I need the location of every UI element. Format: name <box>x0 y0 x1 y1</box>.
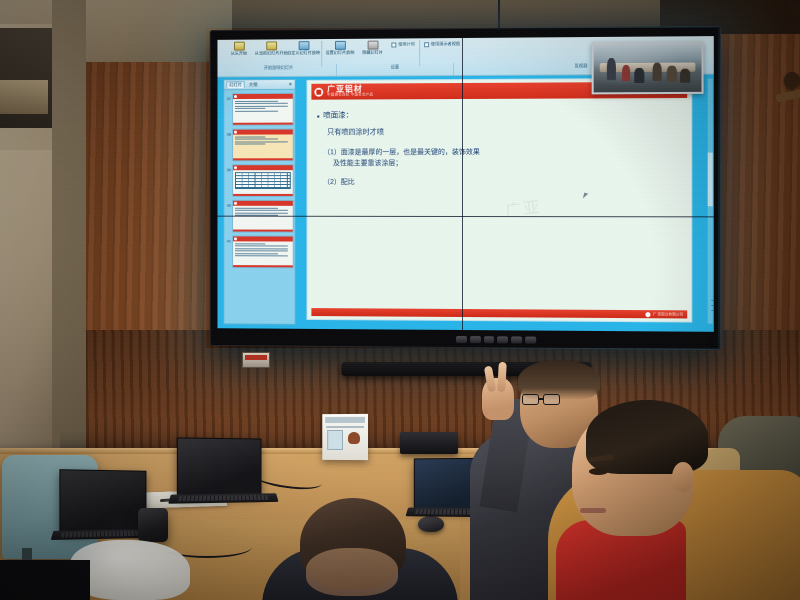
button-set-up-slide-show[interactable]: 设置幻灯片放映 <box>326 41 354 56</box>
ribbon-group-label-start-show: 开始放映幻灯片 <box>221 64 337 77</box>
doorway-light <box>0 80 48 114</box>
slide-number: 41 <box>225 235 231 243</box>
slide-item-1b: 及性能主要靠该涂层； <box>333 158 685 168</box>
play-from-start-icon <box>234 42 245 51</box>
attendee-orange-ear <box>672 462 694 492</box>
scrollbar-thumb[interactable] <box>708 152 713 206</box>
play-from-current-icon <box>266 41 277 50</box>
slide-body-text[interactable]: 喷面漆： 只有喷四涂时才喷 （1）面漆是最厚的一层，也是最关键的，装饰效果 及性… <box>307 98 691 187</box>
slide-item-2: （2）配比 <box>323 177 685 187</box>
conference-speaker <box>138 508 168 542</box>
display-antenna <box>498 0 500 30</box>
tent-card-icon <box>348 432 360 444</box>
attendee-orange-hair <box>586 400 708 474</box>
list-item[interactable]: 39 <box>224 162 294 198</box>
slide-number: 39 <box>225 164 231 172</box>
doorway <box>0 28 52 128</box>
thumbnail-footer-bar <box>233 229 293 231</box>
slide-subline: 只有喷四涂时才喷 <box>327 126 685 137</box>
display-control-buttons[interactable] <box>456 335 536 345</box>
button-custom-slide-show[interactable]: 自定义幻灯片放映 <box>290 41 318 56</box>
custom-show-icon <box>298 41 309 50</box>
wall-knob <box>784 72 800 88</box>
powerpoint-window[interactable]: 从头开始 从当前幻灯片开始 自定义幻灯片放映 <box>217 36 713 332</box>
brand-block: 广亚铝材 中国驰名商标 中国名优产品 <box>327 85 373 97</box>
video-person <box>622 65 631 81</box>
av-device-box <box>400 432 458 454</box>
checkbox-box-icon <box>391 42 396 47</box>
screenshot-scene: 从头开始 从当前幻灯片开始 自定义幻灯片放映 <box>0 0 800 600</box>
display-screen[interactable]: 从头开始 从当前幻灯片开始 自定义幻灯片放映 <box>217 36 713 332</box>
footer-logo-icon <box>646 312 651 317</box>
thumbnail-body <box>233 134 293 145</box>
button-from-current-slide[interactable]: 从当前幻灯片开始 <box>257 41 284 56</box>
thumbnail-header-bar <box>233 165 293 170</box>
status-indicator: ▪▪▪ <box>711 298 712 313</box>
attendee-orange-eye <box>589 468 608 475</box>
table-tent-card <box>322 414 368 460</box>
ribbon-group-label-setup: 设置 <box>337 63 454 76</box>
list-item[interactable]: 37 <box>224 91 294 127</box>
slide-item-1a: （1）面漆是最厚的一层，也是最关键的，装饰效果 <box>323 147 685 158</box>
video-person <box>667 66 677 83</box>
list-item[interactable]: 41 <box>224 233 294 269</box>
brand-subtitle: 中国驰名商标 中国名优产品 <box>327 94 373 98</box>
slide-thumbnail-table[interactable] <box>232 164 294 197</box>
slide-thumbnail[interactable] <box>232 128 294 161</box>
slide-footer-banner: 广 亚铝业有限公司 <box>311 308 687 318</box>
tent-card-graphic <box>327 430 343 450</box>
computer-mouse <box>418 516 444 532</box>
thumbnail-footer-bar <box>233 158 293 160</box>
laptop-left <box>59 469 146 533</box>
thumbnail-footer-bar <box>233 265 293 267</box>
slide-thumbnail[interactable] <box>232 235 294 268</box>
wall-socket-plate <box>242 352 270 368</box>
pane-tab-strip[interactable]: 幻灯片 大纲 × <box>224 80 294 90</box>
finger <box>497 362 507 392</box>
laptop-center <box>177 437 262 496</box>
attendee-center-neck <box>306 548 398 596</box>
checkbox-box-icon <box>424 42 429 47</box>
videowall-seam-vertical <box>462 38 463 330</box>
attendee-orange-lip <box>580 508 606 513</box>
wall-pillar <box>52 0 86 470</box>
slide-number: 40 <box>225 199 231 207</box>
slide-bullet-heading: 喷面漆： <box>317 108 685 120</box>
tab-outline[interactable]: 大纲 <box>247 82 260 88</box>
slide-thumbnail[interactable] <box>232 92 294 125</box>
footer-text: 广 亚铝业有限公司 <box>653 312 683 317</box>
list-item[interactable]: 38 <box>224 127 294 163</box>
current-slide[interactable]: 广亚铝材 中国驰名商标 中国名优产品 广亚 喷面漆： 只有喷四涂时才喷 <box>307 79 691 322</box>
company-logo-icon <box>314 87 323 96</box>
close-icon[interactable]: × <box>289 81 293 87</box>
slide-number: 38 <box>225 128 231 136</box>
slide-editing-canvas[interactable]: 广亚铝材 中国驰名商标 中国名优产品 广亚 喷面漆： 只有喷四涂时才喷 <box>300 77 708 324</box>
bullet-point-icon <box>317 116 319 118</box>
checkbox-use-timings[interactable]: 使用计时 <box>391 41 415 47</box>
thumbnail-body <box>233 205 293 216</box>
tab-slides[interactable]: 幻灯片 <box>226 81 245 88</box>
slide-number: 37 <box>225 93 231 101</box>
thumbnail-body <box>233 98 293 111</box>
thumbnail-footer-bar <box>233 193 293 195</box>
video-wall-display[interactable]: 从头开始 从当前幻灯片开始 自定义幻灯片放映 <box>210 26 721 350</box>
setup-show-icon <box>335 41 346 50</box>
video-person <box>680 69 691 84</box>
video-conference-window[interactable] <box>592 41 704 94</box>
checkbox-use-presenter-view[interactable]: 使用演示者视图 <box>424 41 460 47</box>
eyeglasses-icon <box>522 394 564 405</box>
thumbnail-list[interactable]: 37 3 <box>224 91 294 324</box>
button-hide-slide[interactable]: 隐藏幻灯片 <box>359 41 387 56</box>
slide-thumbnail-pane[interactable]: 幻灯片 大纲 × 37 <box>223 79 295 325</box>
foreground-shadow <box>0 560 90 600</box>
button-from-beginning[interactable]: 从头开始 <box>225 42 252 57</box>
video-person <box>653 63 662 81</box>
thumbnail-table-graphic <box>235 172 291 189</box>
video-person <box>607 58 617 80</box>
thumbnail-body <box>233 241 293 257</box>
hide-slide-icon <box>367 41 378 50</box>
video-person <box>634 68 644 84</box>
vertical-scrollbar[interactable] <box>708 79 713 324</box>
thumbnail-footer-bar <box>233 122 293 124</box>
